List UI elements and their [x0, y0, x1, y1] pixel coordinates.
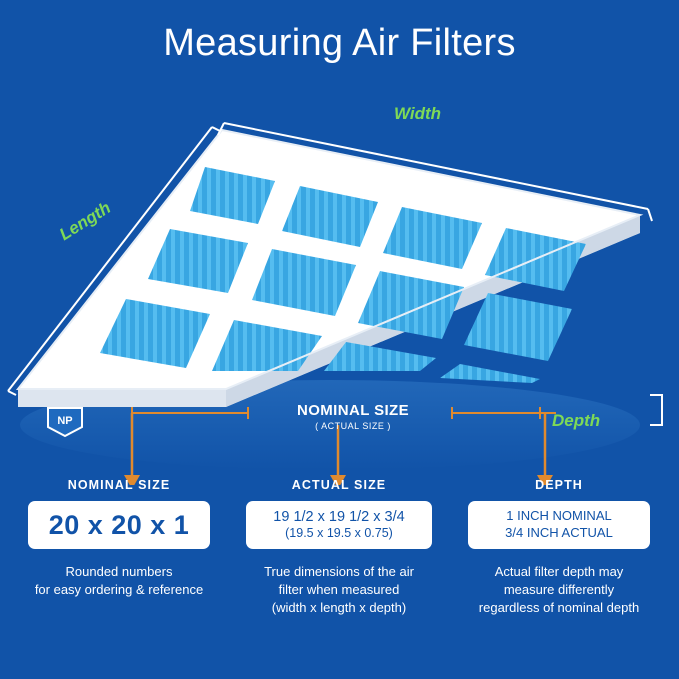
column-description: True dimensions of the airfilter when me…: [226, 563, 452, 618]
column-nominal-size: NOMINAL SIZE 20 x 20 x 1 Rounded numbers…: [6, 478, 232, 599]
depth-actual-value: 3/4 INCH ACTUAL: [505, 525, 613, 542]
depth-label: Depth: [552, 411, 600, 431]
actual-size-decimal: (19.5 x 19.5 x 0.75): [285, 526, 393, 542]
infographic-page: Measuring Air Filters: [0, 0, 679, 679]
column-heading: DEPTH: [446, 478, 672, 492]
column-description: Rounded numbersfor easy ordering & refer…: [6, 563, 232, 599]
column-description: Actual filter depth maymeasure different…: [446, 563, 672, 618]
depth-value-box: 1 INCH NOMINAL 3/4 INCH ACTUAL: [468, 501, 650, 549]
nominal-size-callout: NOMINAL SIZE ( ACTUAL SIZE ): [258, 402, 448, 431]
depth-nominal-value: 1 INCH NOMINAL: [506, 508, 611, 525]
filter-body: [18, 130, 640, 407]
column-heading: NOMINAL SIZE: [6, 478, 232, 492]
nominal-size-callout-subtitle: ( ACTUAL SIZE ): [258, 421, 448, 431]
column-heading: ACTUAL SIZE: [226, 478, 452, 492]
column-depth: DEPTH 1 INCH NOMINAL 3/4 INCH ACTUAL Act…: [446, 478, 672, 618]
nominal-size-value-box: 20 x 20 x 1: [28, 501, 210, 549]
page-title: Measuring Air Filters: [0, 22, 679, 65]
nominal-size-callout-title: NOMINAL SIZE: [258, 402, 448, 419]
depth-bracket: [650, 395, 662, 425]
nominal-size-value: 20 x 20 x 1: [49, 510, 190, 541]
actual-size-value-box: 19 1/2 x 19 1/2 x 3/4 (19.5 x 19.5 x 0.7…: [246, 501, 432, 549]
width-label: Width: [394, 104, 441, 124]
actual-size-fraction: 19 1/2 x 19 1/2 x 3/4: [273, 508, 404, 526]
svg-text:NP: NP: [57, 415, 72, 427]
column-actual-size: ACTUAL SIZE 19 1/2 x 19 1/2 x 3/4 (19.5 …: [226, 478, 452, 618]
